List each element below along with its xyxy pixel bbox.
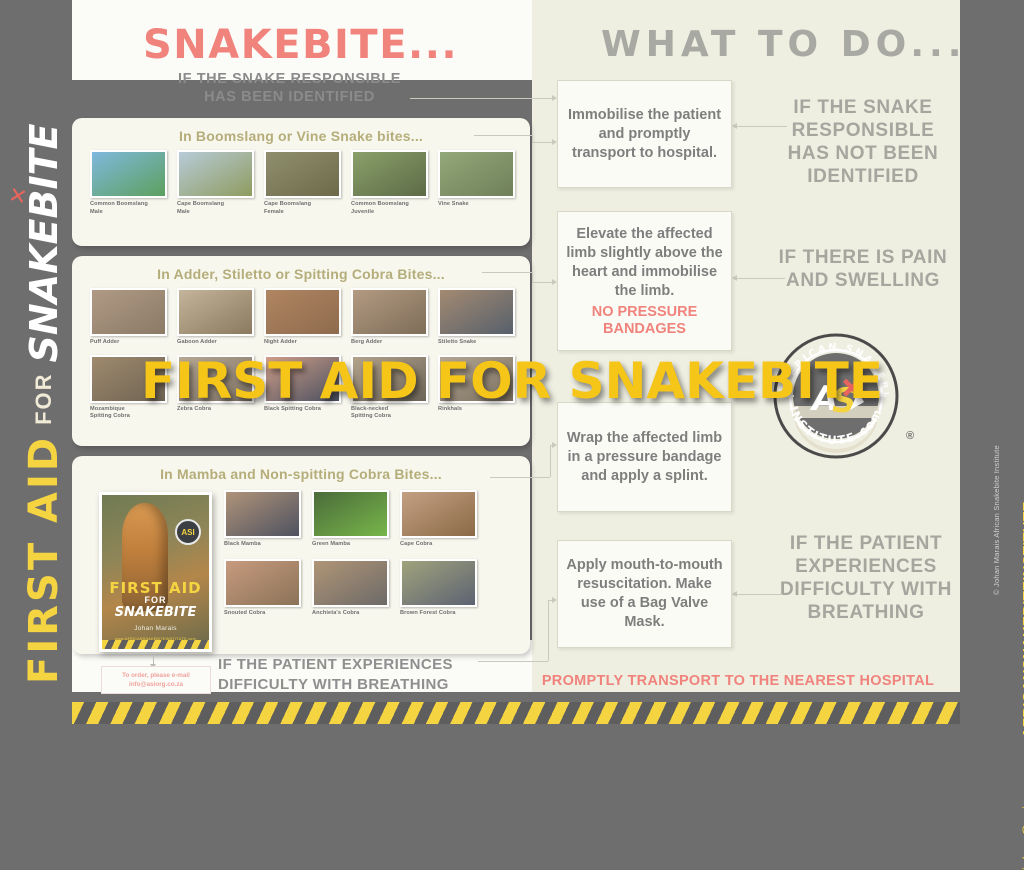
snake-thumbnail[interactable]: Rinkhals [438,355,515,421]
connector-boomslang-line [474,135,532,136]
action-text: Apply mouth-to-mouth resuscitation. Make… [566,556,723,632]
order-arrow-icon [153,653,154,665]
snake-thumbnail[interactable]: Cape BoomslangFemale [264,150,341,216]
hazard-stripe-bottom [72,702,960,724]
bottom-transport-banner: PROMPTLY TRANSPORT TO THE NEAREST HOSPIT… [516,673,960,689]
snake-caption: Zebra Cobra [177,406,254,414]
connector-boomslang-vert [532,135,533,142]
page-subtitle-identified: IF THE SNAKE RESPONSIBLE HAS BEEN IDENTI… [178,70,401,106]
snake-photo [351,150,428,198]
left-title-snakebite-text: SNAKEBITE [22,124,66,363]
asi-badge-icon: ASI [175,519,201,545]
connector-identified-to-box1 [410,98,556,99]
snake-photo [177,288,254,336]
snake-thumbnail[interactable]: Green Mamba [312,490,389,549]
snake-caption: Black Spitting Cobra [264,406,341,414]
thumbnail-grid-mamba: Black MambaGreen MambaCape CobraSnouted … [224,486,477,617]
snake-thumbnail[interactable]: Anchieta's Cobra [312,559,389,618]
snake-caption: Rinkhals [438,406,515,414]
snake-caption: Black Mamba [224,541,301,549]
action-box-elevate-limb[interactable]: Elevate the affected limb slightly above… [557,211,732,351]
page-title-what-to-do: WHAT TO DO... [601,24,966,65]
snake-group-boomslang: In Boomslang or Vine Snake bites... Comm… [72,118,530,246]
left-sidebar: FIRST AID FOR SNAKEBITE ✕ [0,0,72,724]
snake-caption: Cape BoomslangMale [177,201,254,216]
snake-thumbnail[interactable]: Puff Adder [90,288,167,347]
thumbnail-row-adder-top: Puff AdderGaboon AdderNight AdderBerg Ad… [72,282,530,347]
snake-thumbnail[interactable]: Stiletto Snake [438,288,515,347]
connector-mamba-vert [550,445,551,477]
snake-caption: Snouted Cobra [224,610,301,618]
group-title-adder: In Adder, Stiletto or Spitting Cobra Bit… [72,256,530,282]
snake-photo [351,288,428,336]
condition-snake-not-identified: IF THE SNAKE RESPONSIBLE HAS NOT BEEN ID… [768,96,958,188]
connector-cond1-to-box1 [733,126,787,127]
snake-photo [312,490,389,538]
right-sidebar: www.AFRICANSNAKEBITEINSTITUTE.com © Joha… [960,0,1024,724]
connector-mamba-line [490,477,550,478]
snake-caption: Common BoomslangJuvenile [351,201,428,216]
snake-photo [438,355,515,403]
left-sidebar-title: FIRST AID FOR SNAKEBITE ✕ [8,24,80,684]
connector-boomslang-to-box1 [532,142,556,143]
snake-caption: Berg Adder [351,339,428,347]
snake-caption: Green Mamba [312,541,389,549]
bottom-left-line-1: IF THE PATIENT EXPERIENCES [218,655,453,675]
snake-thumbnail[interactable]: Zebra Cobra [177,355,254,421]
snake-photo [351,355,428,403]
book-hazard-stripe [102,640,209,649]
snake-photo [312,559,389,607]
poster-canvas: SNAKEBITE... IF THE SNAKE RESPONSIBLE HA… [0,0,1024,724]
left-title-snakebite: SNAKEBITE ✕ [22,124,66,363]
action-box-immobilise-transport[interactable]: Immobilise the patient and promptly tran… [557,80,732,188]
snake-thumbnail[interactable]: MozambiqueSpitting Cobra [90,355,167,421]
action-box-pressure-bandage[interactable]: Wrap the affected limb in a pressure ban… [557,402,732,512]
snake-caption: Vine Snake [438,201,515,209]
left-title-for: FOR [31,372,57,424]
snake-photo [438,288,515,336]
url-tld: .com [1020,468,1024,501]
book-title-for: FOR [102,595,209,605]
connector-bottomtext-vert [548,600,549,661]
order-info-box[interactable]: To order, please e-mail info@asiorg.co.z… [101,666,211,694]
snake-photo [90,288,167,336]
bottom-condition-breathing: IF THE PATIENT EXPERIENCES DIFFICULTY WI… [218,655,453,695]
order-line-1: To order, please e-mail [104,671,208,680]
snake-photo [90,355,167,403]
action-box-resuscitation[interactable]: Apply mouth-to-mouth resuscitation. Make… [557,540,732,648]
connector-cond3-to-box4 [733,594,783,595]
asi-logo[interactable]: AFRICAN SNAKEBITE INSTITUTE.com A S [772,332,900,460]
book-author: Johan Marais [102,625,209,632]
snake-caption: Puff Adder [90,339,167,347]
snake-thumbnail[interactable]: Berg Adder [351,288,428,347]
snake-thumbnail[interactable]: Snouted Cobra [224,559,301,618]
thumbnail-row-adder-bottom: MozambiqueSpitting CobraZebra CobraBlack… [72,347,530,421]
connector-cond2-to-box2 [733,278,785,279]
snake-thumbnail[interactable]: Gaboon Adder [177,288,254,347]
snake-caption: Cape BoomslangFemale [264,201,341,216]
bottom-left-line-2: DIFFICULTY WITH BREATHING [218,675,453,695]
snake-caption: Stiletto Snake [438,339,515,347]
subtitle-line-1: IF THE SNAKE RESPONSIBLE [178,70,401,88]
snake-thumbnail[interactable]: Vine Snake [438,150,515,216]
connector-adder-to-box2 [532,282,556,283]
connector-bottomtext-line [478,661,548,662]
snake-thumbnail[interactable]: Common BoomslangMale [90,150,167,216]
snake-photo [438,150,515,198]
copyright-notice: © Johan Marais African Snakebite Institu… [992,405,1008,595]
snake-thumbnail[interactable]: Black Mamba [224,490,301,549]
page-title-snakebite: SNAKEBITE... [143,22,458,68]
contact-email[interactable]: johan@asiorg.co.za [1020,700,1024,870]
snake-caption: Night Adder [264,339,341,347]
snake-thumbnail[interactable]: Brown Forest Cobra [400,559,477,618]
action-text: Elevate the affected limb slightly above… [566,225,723,301]
snake-photo [177,355,254,403]
snake-thumbnail[interactable]: Night Adder [264,288,341,347]
registered-trademark-icon: ® [906,430,914,442]
group-title-mamba: In Mamba and Non-spitting Cobra Bites... [72,456,530,482]
group-title-boomslang: In Boomslang or Vine Snake bites... [72,118,530,144]
condition-difficulty-breathing: IF THE PATIENT EXPERIENCES DIFFICULTY WI… [770,532,962,624]
snake-thumbnail[interactable]: Cape BoomslangMale [177,150,254,216]
snake-photo [90,150,167,198]
coral-accent-icon: ✕ [7,185,22,205]
condition-pain-and-swelling: IF THERE IS PAIN AND SWELLING [770,246,956,292]
snake-photo [264,150,341,198]
snake-photo [400,559,477,607]
snake-caption: Gaboon Adder [177,339,254,347]
action-text: Wrap the affected limb in a pressure ban… [566,429,723,486]
snake-caption: Common BoomslangMale [90,201,167,216]
snake-caption: Brown Forest Cobra [400,610,477,618]
book-title-subject: SNAKEBITE [102,605,209,620]
connector-bottomtext-to-box4 [548,600,556,601]
book-cover-first-aid-for-snakebite[interactable]: ASI FIRST AID FOR SNAKEBITE Johan Marais… [99,492,212,652]
snake-group-adder: In Adder, Stiletto or Spitting Cobra Bit… [72,256,530,446]
snake-photo [400,490,477,538]
snake-photo [264,288,341,336]
action-text: Immobilise the patient and promptly tran… [566,106,723,163]
left-title-first-aid: FIRST AID [21,435,67,684]
snake-thumbnail[interactable]: Common BoomslangJuvenile [351,150,428,216]
snake-caption: MozambiqueSpitting Cobra [90,406,167,421]
thumbnail-row-boomslang: Common BoomslangMaleCape BoomslangMaleCa… [72,144,530,216]
snake-caption: Cape Cobra [400,541,477,549]
snake-photo [224,559,301,607]
snake-photo [177,150,254,198]
snake-photo [224,490,301,538]
subtitle-line-2: HAS BEEN IDENTIFIED [178,88,401,106]
connector-adder-vert [532,272,533,282]
snake-photo [264,355,341,403]
snake-thumbnail[interactable]: Black Spitting Cobra [264,355,341,421]
snake-caption: Anchieta's Cobra [312,610,389,618]
order-line-2: info@asiorg.co.za [104,680,208,689]
action-warning-no-pressure-bandages: NO PRESSURE BANDAGES [566,304,723,338]
snake-thumbnail[interactable]: Cape Cobra [400,490,477,549]
connector-adder-line [482,272,532,273]
connector-mamba-to-box3 [550,445,556,446]
snake-caption: Black-neckedSpitting Cobra [351,406,428,421]
snake-thumbnail[interactable]: Black-neckedSpitting Cobra [351,355,428,421]
